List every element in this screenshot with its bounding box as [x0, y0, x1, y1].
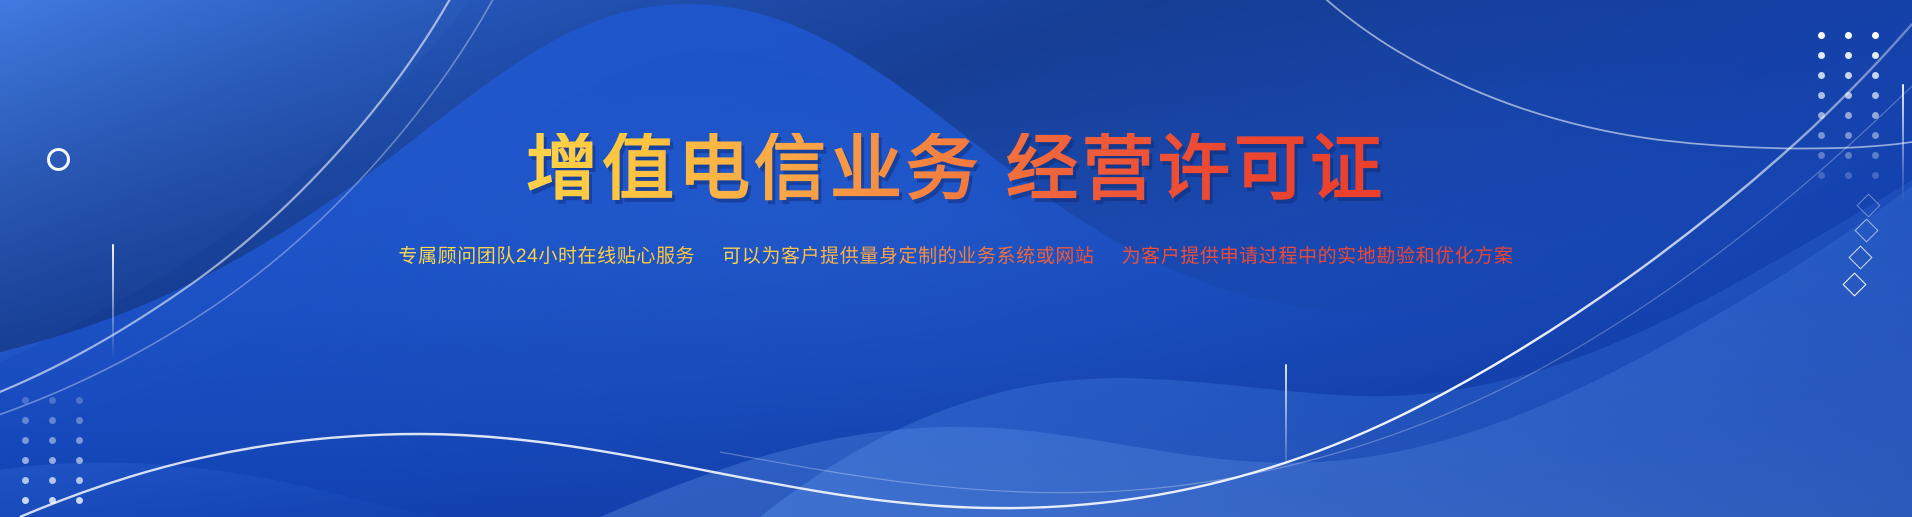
dot-grid-top-right	[1818, 32, 1879, 179]
grid-dot	[49, 397, 56, 404]
grid-dot	[76, 457, 83, 464]
grid-dot	[49, 477, 56, 484]
grid-dot	[1845, 72, 1852, 79]
vertical-accent-bar-right	[1902, 84, 1904, 202]
grid-dot	[22, 417, 29, 424]
grid-dot	[1818, 172, 1825, 179]
vertical-accent-bar-bottom	[1285, 364, 1287, 462]
grid-dot	[22, 477, 29, 484]
diamond-stack	[1838, 197, 1898, 307]
grid-dot	[1845, 92, 1852, 99]
background-waves	[0, 0, 1912, 517]
grid-dot	[49, 437, 56, 444]
diamond-accent-icon	[1856, 193, 1880, 217]
grid-dot	[1818, 132, 1825, 139]
grid-dot	[76, 477, 83, 484]
grid-dot	[1818, 72, 1825, 79]
grid-dot	[22, 497, 29, 504]
grid-dot	[1872, 132, 1879, 139]
grid-dot	[49, 457, 56, 464]
grid-dot	[1818, 52, 1825, 59]
diamond-accent-icon	[1848, 245, 1872, 269]
grid-dot	[1845, 172, 1852, 179]
grid-dot	[1845, 52, 1852, 59]
grid-dot	[1872, 32, 1879, 39]
vertical-accent-bar-left	[112, 244, 114, 359]
ring-accent-icon	[47, 148, 70, 171]
grid-dot	[1845, 112, 1852, 119]
diamond-accent-icon	[1842, 272, 1866, 296]
grid-dot	[1872, 152, 1879, 159]
grid-dot	[1818, 112, 1825, 119]
grid-dot	[76, 497, 83, 504]
grid-dot	[1845, 32, 1852, 39]
grid-dot	[1818, 32, 1825, 39]
diamond-accent-icon	[1854, 218, 1878, 242]
grid-dot	[1845, 152, 1852, 159]
grid-dot	[22, 457, 29, 464]
grid-dot	[76, 437, 83, 444]
grid-dot	[76, 417, 83, 424]
grid-dot	[1872, 52, 1879, 59]
grid-dot	[1872, 112, 1879, 119]
grid-dot	[1872, 172, 1879, 179]
promo-banner: 增值电信业务 经营许可证 专属顾问团队24小时在线贴心服务 可以为客户提供量身定…	[0, 0, 1912, 517]
grid-dot	[22, 437, 29, 444]
grid-dot	[22, 397, 29, 404]
grid-dot	[1845, 132, 1852, 139]
grid-dot	[1818, 92, 1825, 99]
grid-dot	[1872, 92, 1879, 99]
grid-dot	[49, 417, 56, 424]
grid-dot	[49, 497, 56, 504]
grid-dot	[1872, 72, 1879, 79]
grid-dot	[1818, 152, 1825, 159]
dot-grid-bottom-left	[22, 397, 83, 517]
grid-dot	[76, 397, 83, 404]
